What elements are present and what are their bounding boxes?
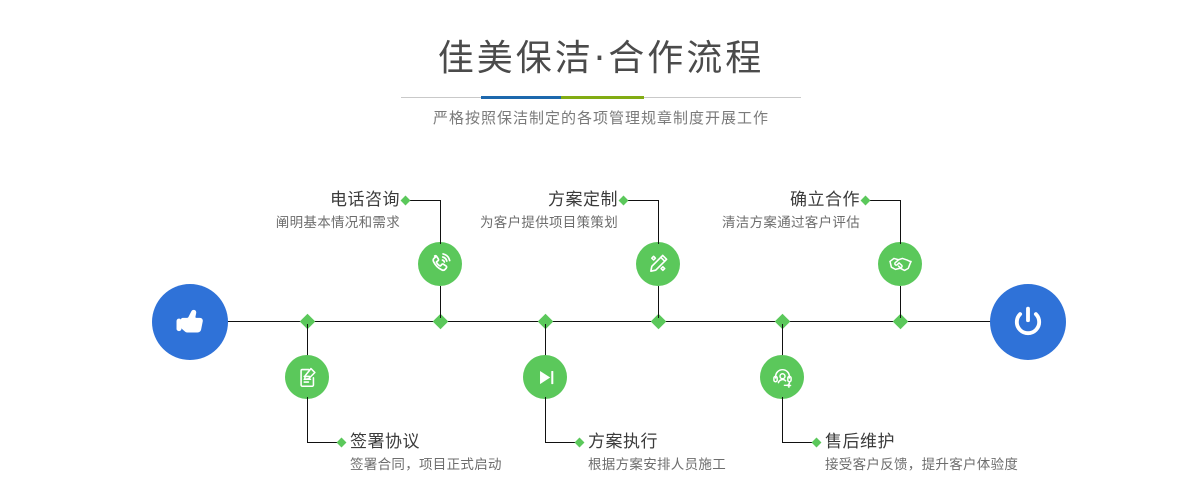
title-divider xyxy=(401,96,801,99)
page-subtitle: 严格按照保洁制定的各项管理规章制度开展工作 xyxy=(0,107,1202,129)
divider-segment-green xyxy=(561,96,644,99)
page-title: 佳美保洁·合作流程 xyxy=(0,36,1202,82)
step-5-title: 确立合作 xyxy=(622,188,860,212)
end-endpoint xyxy=(990,284,1066,360)
step-5-icon-circle xyxy=(878,242,922,286)
connector-tick-4 xyxy=(545,324,546,356)
customer-service-icon xyxy=(770,365,795,390)
step-4-elbow-vertical xyxy=(545,397,546,442)
document-edit-icon xyxy=(295,365,320,390)
divider-segment-blue xyxy=(481,96,561,99)
step-2-label-marker xyxy=(337,438,347,448)
step-2-desc: 签署合同，项目正式启动 xyxy=(350,454,610,476)
connector-tick-1 xyxy=(440,286,441,318)
step-3-icon-circle xyxy=(636,242,680,286)
step-2-label: 签署协议 签署合同，项目正式启动 xyxy=(350,430,610,476)
pointing-hand-icon xyxy=(169,301,211,343)
step-5-elbow-vertical xyxy=(900,200,901,244)
step-3-title: 方案定制 xyxy=(380,188,618,212)
step-2-icon-circle xyxy=(285,355,329,399)
connector-tick-2 xyxy=(307,324,308,356)
step-6-elbow-vertical xyxy=(782,397,783,442)
step-5-elbow-horizontal xyxy=(866,200,900,201)
step-4-icon-circle xyxy=(523,355,567,399)
start-endpoint xyxy=(152,284,228,360)
step-1-icon-circle xyxy=(418,242,462,286)
phone-call-icon xyxy=(427,251,453,277)
handshake-icon xyxy=(887,251,914,278)
step-5-label-marker xyxy=(861,196,871,206)
play-to-end-icon xyxy=(533,365,558,390)
connector-tick-6 xyxy=(782,324,783,356)
power-icon xyxy=(1006,300,1050,344)
step-5-desc: 清洁方案通过客户评估 xyxy=(622,212,860,234)
step-6-label: 售后维护 接受客户反馈，提升客户体验度 xyxy=(825,430,1125,476)
flow-diagram-page: 佳美保洁·合作流程 严格按照保洁制定的各项管理规章制度开展工作 xyxy=(0,0,1202,502)
connector-tick-5 xyxy=(900,286,901,318)
step-2-elbow-vertical xyxy=(307,397,308,442)
step-6-title: 售后维护 xyxy=(825,430,1125,454)
step-4-desc: 根据方案安排人员施工 xyxy=(588,454,848,476)
step-3-label: 方案定制 为客户提供项目策策划 xyxy=(380,188,618,234)
step-1-desc: 阐明基本情况和需求 xyxy=(162,212,400,234)
step-1-title: 电话咨询 xyxy=(162,188,400,212)
step-1-label: 电话咨询 阐明基本情况和需求 xyxy=(162,188,400,234)
step-6-icon-circle xyxy=(760,355,804,399)
pencil-design-icon xyxy=(645,251,671,277)
step-6-desc: 接受客户反馈，提升客户体验度 xyxy=(825,454,1125,476)
step-5-label: 确立合作 清洁方案通过客户评估 xyxy=(622,188,860,234)
step-3-desc: 为客户提供项目策策划 xyxy=(380,212,618,234)
connector-tick-3 xyxy=(658,286,659,318)
step-4-label: 方案执行 根据方案安排人员施工 xyxy=(588,430,848,476)
